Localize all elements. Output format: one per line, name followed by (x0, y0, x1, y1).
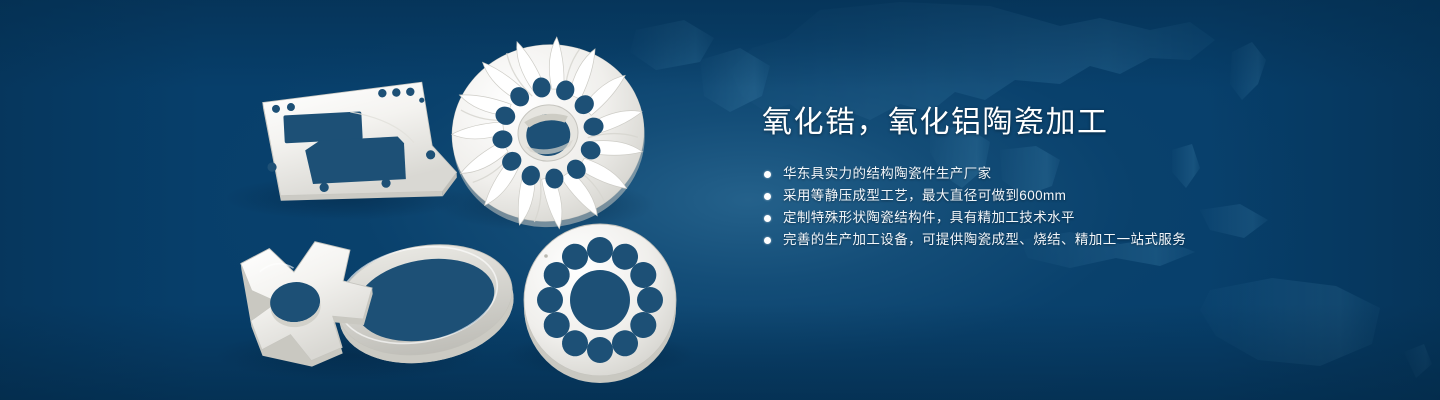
list-item: 定制特殊形状陶瓷结构件，具有精加工技术水平 (764, 207, 1362, 229)
list-item: 采用等静压成型工艺，最大直径可做到600mm (764, 185, 1362, 207)
bullet-dot-icon (764, 215, 771, 222)
banner-text-block: 氧化锆，氧化铝陶瓷加工 华东具实力的结构陶瓷件生产厂家 采用等静压成型工艺，最大… (762, 104, 1362, 251)
list-item-label: 采用等静压成型工艺，最大直径可做到600mm (783, 185, 1066, 207)
feature-list: 华东具实力的结构陶瓷件生产厂家 采用等静压成型工艺，最大直径可做到600mm 定… (764, 163, 1362, 251)
list-item: 完善的生产加工设备，可提供陶瓷成型、烧结、精加工一站式服务 (764, 229, 1362, 251)
bullet-dot-icon (764, 193, 771, 200)
bullet-dot-icon (764, 237, 771, 244)
list-item-label: 华东具实力的结构陶瓷件生产厂家 (783, 163, 992, 185)
product-photo (0, 0, 720, 400)
page-title: 氧化锆，氧化铝陶瓷加工 (762, 104, 1362, 142)
bullet-dot-icon (764, 171, 771, 178)
product-banner: 氧化锆，氧化铝陶瓷加工 华东具实力的结构陶瓷件生产厂家 采用等静压成型工艺，最大… (0, 0, 1440, 400)
ceramic-machined-plate (262, 81, 458, 206)
list-item: 华东具实力的结构陶瓷件生产厂家 (764, 163, 1362, 185)
list-item-label: 完善的生产加工设备，可提供陶瓷成型、烧结、精加工一站式服务 (783, 229, 1186, 251)
ceramic-perforated-disc (524, 224, 676, 383)
list-item-label: 定制特殊形状陶瓷结构件，具有精加工技术水平 (783, 207, 1075, 229)
